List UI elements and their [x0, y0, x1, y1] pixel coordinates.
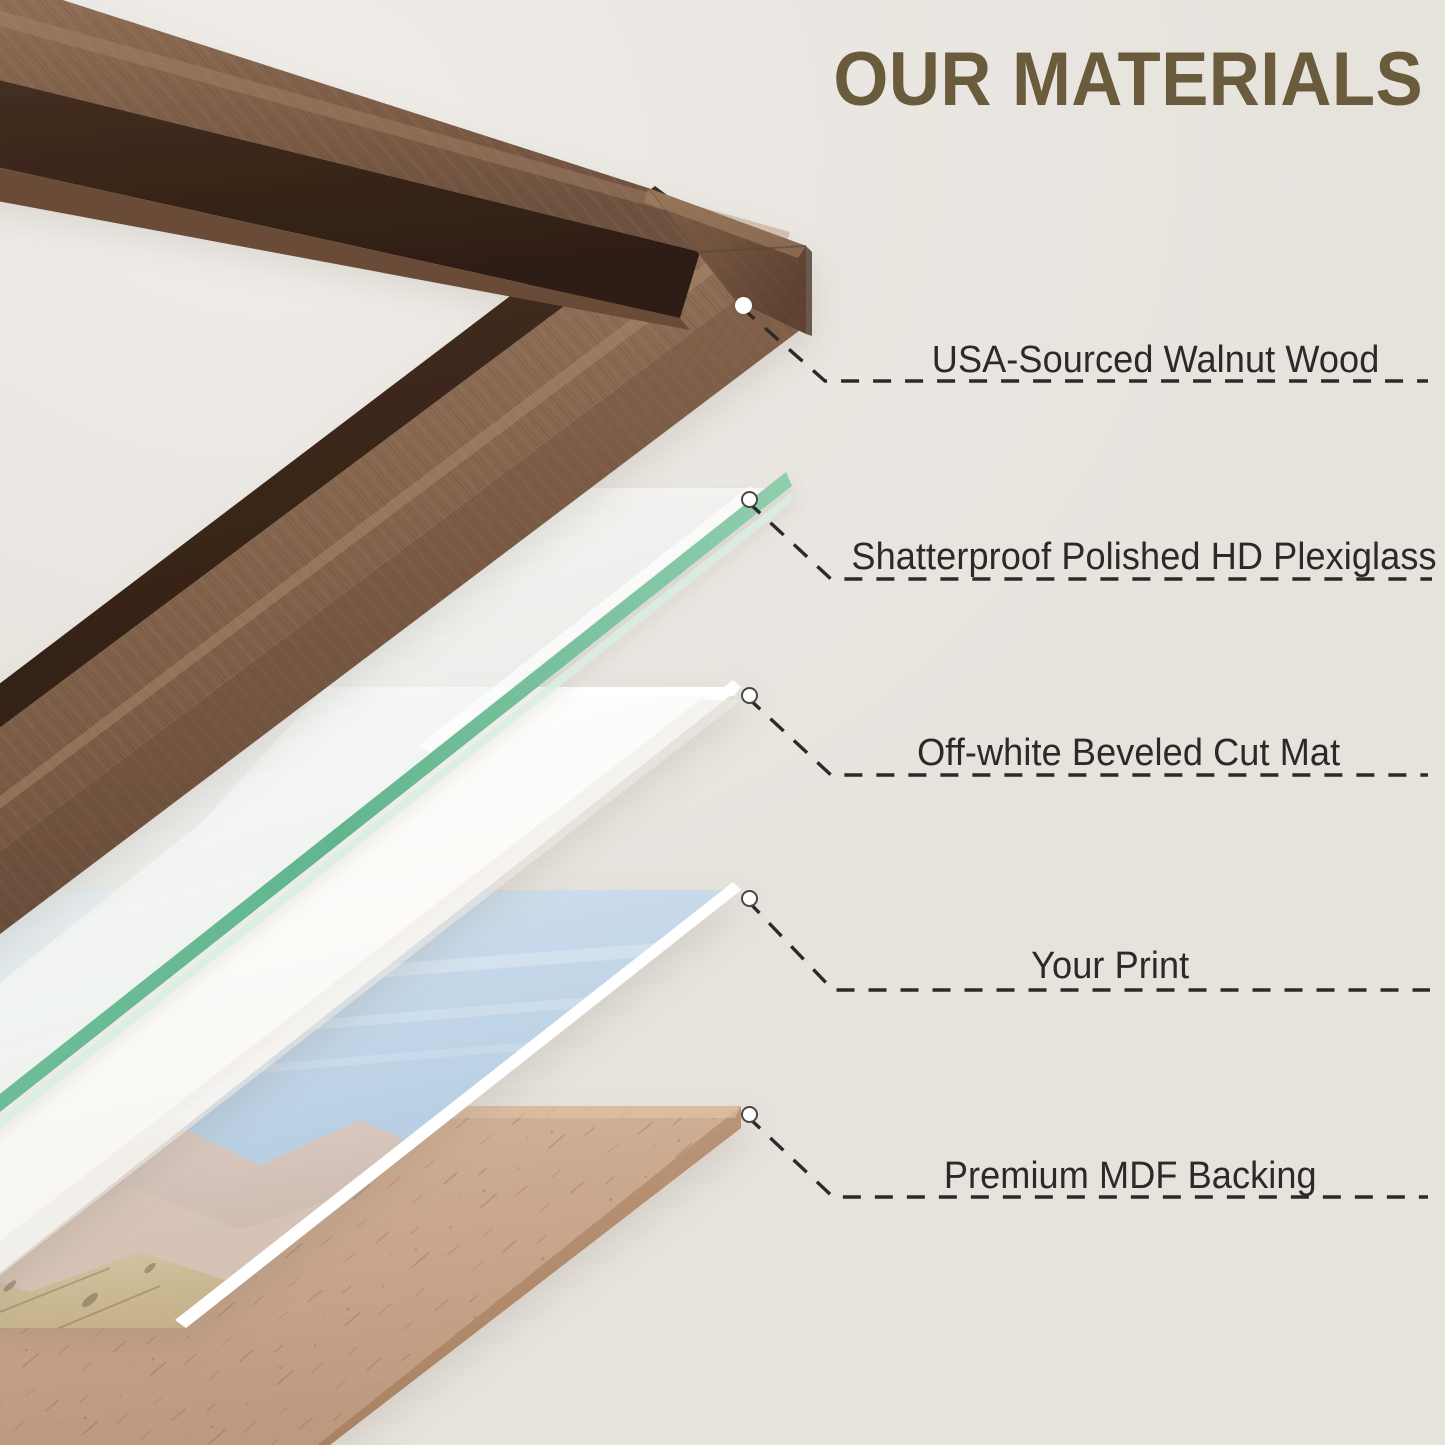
callout-leader-mdf [0, 0, 1445, 1445]
callout-dot-mdf[interactable] [741, 1106, 758, 1123]
materials-infographic: OUR MATERIALS USA-Sourced Walnut WoodSha… [0, 0, 1445, 1445]
callout-label-mdf: Premium MDF Backing [944, 1155, 1317, 1198]
